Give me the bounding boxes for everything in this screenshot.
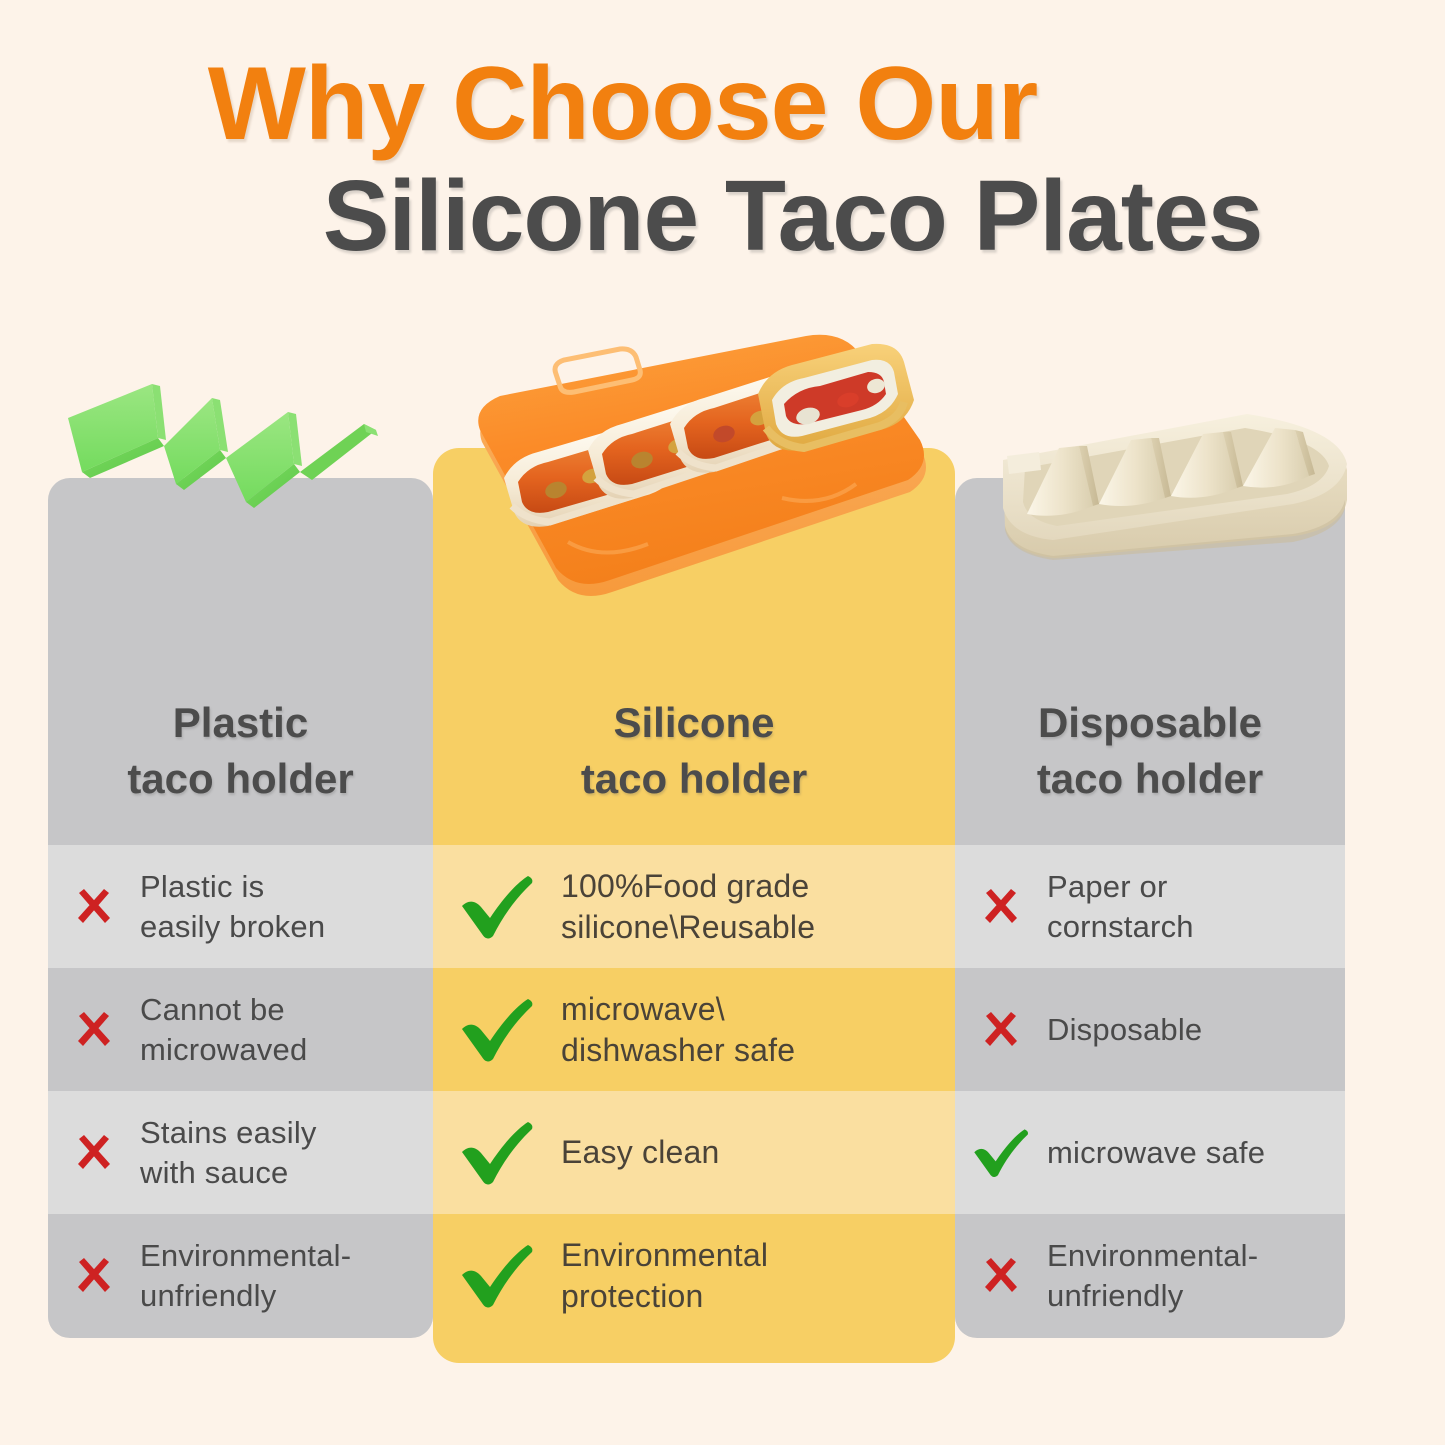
feature-text: microwave\ dishwasher safe bbox=[561, 989, 795, 1071]
feature-row: Cannot be microwaved bbox=[48, 968, 433, 1091]
check-icon bbox=[433, 1119, 561, 1187]
feature-list-plastic: Plastic is easily broken Cannot be micro… bbox=[48, 845, 433, 1338]
product-image-plastic-holder bbox=[60, 378, 420, 558]
feature-row: Stains easily with sauce bbox=[48, 1091, 433, 1214]
feature-row: Easy clean bbox=[433, 1091, 955, 1214]
check-icon bbox=[955, 1127, 1047, 1179]
feature-text-line1: Plastic is bbox=[140, 869, 264, 904]
cross-icon bbox=[48, 1007, 140, 1053]
column-title-silicone: Silicone taco holder bbox=[433, 695, 955, 807]
feature-row: Plastic is easily broken bbox=[48, 845, 433, 968]
feature-text: Stains easily with sauce bbox=[140, 1113, 317, 1192]
product-image-disposable-tray bbox=[995, 408, 1355, 588]
cross-icon bbox=[48, 1130, 140, 1176]
feature-text-line2: microwaved bbox=[140, 1032, 307, 1067]
feature-text-line2: dishwasher safe bbox=[561, 1032, 795, 1068]
feature-text: Environmental- unfriendly bbox=[140, 1236, 351, 1315]
feature-text: Environmental protection bbox=[561, 1235, 768, 1317]
feature-text: Paper or cornstarch bbox=[1047, 867, 1194, 946]
title-line-secondary: Silicone Taco Plates bbox=[140, 164, 1445, 269]
feature-row: 100%Food grade silicone\Reusable bbox=[433, 845, 955, 968]
cross-icon bbox=[48, 884, 140, 930]
product-image-silicone-taco-plate bbox=[452, 330, 942, 660]
check-icon bbox=[433, 873, 561, 941]
feature-text-line1: Disposable bbox=[1047, 1012, 1202, 1047]
column-title-disposable: Disposable taco holder bbox=[955, 695, 1345, 807]
feature-text-line1: Cannot be bbox=[140, 992, 285, 1027]
feature-text: Cannot be microwaved bbox=[140, 990, 307, 1069]
feature-row: Disposable bbox=[955, 968, 1345, 1091]
feature-row: Environmental- unfriendly bbox=[48, 1214, 433, 1337]
column-title-line1: Disposable bbox=[1038, 699, 1262, 746]
column-title-plastic: Plastic taco holder bbox=[48, 695, 433, 807]
feature-text: Plastic is easily broken bbox=[140, 867, 325, 946]
feature-text-line2: protection bbox=[561, 1278, 704, 1314]
feature-text-line1: Easy clean bbox=[561, 1134, 720, 1170]
feature-text: 100%Food grade silicone\Reusable bbox=[561, 866, 815, 948]
column-title-line1: Plastic bbox=[173, 699, 308, 746]
feature-text-line1: microwave\ bbox=[561, 991, 725, 1027]
feature-text-line1: Environmental- bbox=[1047, 1238, 1258, 1273]
feature-text-line2: unfriendly bbox=[1047, 1278, 1183, 1313]
check-icon bbox=[433, 996, 561, 1064]
feature-text: Easy clean bbox=[561, 1132, 720, 1173]
cross-icon bbox=[955, 1007, 1047, 1053]
feature-list-silicone: 100%Food grade silicone\Reusable microwa… bbox=[433, 845, 955, 1363]
feature-text-line2: silicone\Reusable bbox=[561, 909, 815, 945]
feature-row: Paper or cornstarch bbox=[955, 845, 1345, 968]
feature-row: microwave\ dishwasher safe bbox=[433, 968, 955, 1091]
feature-text-line2: cornstarch bbox=[1047, 909, 1194, 944]
column-title-line2: taco holder bbox=[581, 755, 807, 802]
feature-text-line1: Environmental bbox=[561, 1237, 768, 1273]
feature-text-line2: unfriendly bbox=[140, 1278, 276, 1313]
check-icon bbox=[433, 1242, 561, 1310]
feature-list-disposable: Paper or cornstarch Disposable microwave… bbox=[955, 845, 1345, 1338]
feature-text-line1: microwave safe bbox=[1047, 1135, 1265, 1170]
feature-text: Disposable bbox=[1047, 1010, 1202, 1050]
feature-text: microwave safe bbox=[1047, 1133, 1265, 1173]
title-line-primary: Why Choose Our bbox=[0, 52, 1445, 156]
cross-icon bbox=[955, 884, 1047, 930]
feature-text-line1: 100%Food grade bbox=[561, 868, 809, 904]
column-title-line2: taco holder bbox=[1037, 755, 1263, 802]
feature-text-line1: Stains easily bbox=[140, 1115, 317, 1150]
comparison-column-disposable: Disposable taco holder Paper or cornstar… bbox=[955, 478, 1345, 1338]
feature-row: microwave safe bbox=[955, 1091, 1345, 1214]
column-title-line1: Silicone bbox=[613, 699, 774, 746]
cross-icon bbox=[48, 1253, 140, 1299]
feature-text-line1: Environmental- bbox=[140, 1238, 351, 1273]
feature-text: Environmental- unfriendly bbox=[1047, 1236, 1258, 1315]
feature-text-line2: with sauce bbox=[140, 1155, 288, 1190]
feature-row: Environmental- unfriendly bbox=[955, 1214, 1345, 1337]
comparison-column-plastic: Plastic taco holder Plastic is easily br… bbox=[48, 478, 433, 1338]
column-title-line2: taco holder bbox=[127, 755, 353, 802]
page-title: Why Choose Our Silicone Taco Plates bbox=[0, 52, 1445, 269]
cross-icon bbox=[955, 1253, 1047, 1299]
feature-text-line2: easily broken bbox=[140, 909, 325, 944]
feature-text-line1: Paper or bbox=[1047, 869, 1168, 904]
feature-row: Environmental protection bbox=[433, 1214, 955, 1337]
